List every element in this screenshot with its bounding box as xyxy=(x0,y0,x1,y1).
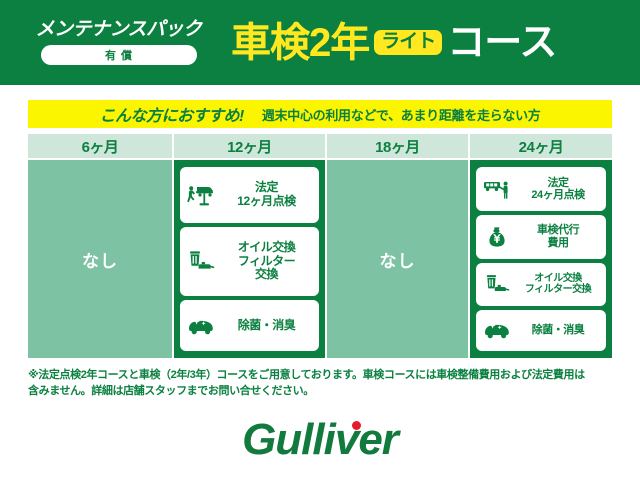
service-label-oil-filter-change-24: オイル交換フィルター交換 xyxy=(514,273,602,295)
column-12-months: 12ヶ月 xyxy=(174,134,325,358)
service-chip-legal-12-month-inspection: 法定12ヶ月点検 xyxy=(180,167,319,223)
none-label-6-months: なし xyxy=(82,247,118,272)
service-label-oil-filter-change-12: オイル交換フィルター交換 xyxy=(218,241,315,281)
service-chip-sanitize-deodorize-12: 除菌・消臭 xyxy=(180,300,319,351)
service-chip-oil-filter-change-24: オイル交換フィルター交換 xyxy=(476,263,606,306)
paid-badge: 有償 xyxy=(41,45,197,65)
paid-badge-label: 有償 xyxy=(100,47,137,63)
column-body-12-months: 法定12ヶ月点検 xyxy=(174,160,325,358)
course-title-block: 車検2年 ライト コース xyxy=(231,23,640,63)
service-chip-shaken-agency-fee: 車検代行費用 xyxy=(476,215,606,259)
service-label-sanitize-deodorize-12: 除菌・消臭 xyxy=(218,319,315,332)
shaken-2year-label: 車検2年 xyxy=(231,23,369,63)
service-label-legal-24-month-inspection: 法定24ヶ月点検 xyxy=(514,177,602,202)
page-header: メンテナンスパック 有償 車検2年 ライト コース xyxy=(0,0,640,85)
maintenance-schedule-table: 6ヶ月 なし 12ヶ月 xyxy=(28,134,612,358)
column-header-6-months: 6ヶ月 xyxy=(28,134,172,158)
car-inspection-person-icon xyxy=(480,178,514,200)
service-chip-legal-24-month-inspection: 法定24ヶ月点検 xyxy=(476,167,606,211)
money-bag-yen-icon xyxy=(480,225,514,249)
advertisement-page: メンテナンスパック 有償 車検2年 ライト コース こんな方におすすめ! 週末中… xyxy=(0,0,640,480)
car-sanitize-icon xyxy=(480,319,514,341)
column-body-18-months: なし xyxy=(327,160,468,358)
service-chip-oil-filter-change-12: オイル交換フィルター交換 xyxy=(180,227,319,296)
oil-filter-change-icon xyxy=(184,248,218,274)
logo-accent-dot-icon xyxy=(352,421,361,430)
maintenance-pack-block: メンテナンスパック 有償 xyxy=(16,20,221,65)
footnote-line-1: ※法定点検2年コースと車検（2年/3年）コースをご用意しております。車検コースに… xyxy=(28,368,614,384)
column-body-24-months: 法定24ヶ月点検 車検代行費用 xyxy=(470,160,612,358)
column-header-18-months: 18ヶ月 xyxy=(327,134,468,158)
column-24-months: 24ヶ月 xyxy=(470,134,612,358)
car-lift-inspection-icon xyxy=(184,182,218,208)
column-header-12-months: 12ヶ月 xyxy=(174,134,325,158)
service-label-sanitize-deodorize-24: 除菌・消臭 xyxy=(514,324,602,336)
oil-filter-change-icon xyxy=(480,272,514,296)
column-18-months: 18ヶ月 なし xyxy=(327,134,468,358)
light-badge: ライト xyxy=(374,30,442,56)
service-label-legal-12-month-inspection: 法定12ヶ月点検 xyxy=(218,181,315,208)
none-label-18-months: なし xyxy=(379,247,415,272)
maintenance-pack-title: メンテナンスパック xyxy=(35,20,201,40)
car-sanitize-icon xyxy=(184,315,218,337)
footnote-line-2: 含みません。詳細は店舗スタッフまでお問い合せください。 xyxy=(28,384,614,400)
service-chip-sanitize-deodorize-24: 除菌・消臭 xyxy=(476,310,606,351)
service-label-shaken-agency-fee: 車検代行費用 xyxy=(514,224,602,249)
logo-wrap: Gulliver xyxy=(242,418,398,462)
brand-logo: Gulliver xyxy=(0,418,640,462)
recommendation-headline: こんな方におすすめ! xyxy=(100,102,244,126)
logo-text: Gulliver xyxy=(242,415,398,464)
recommendation-description: 週末中心の利用などで、あまり距離を走らない方 xyxy=(262,105,541,124)
column-6-months: 6ヶ月 なし xyxy=(28,134,172,358)
column-body-6-months: なし xyxy=(28,160,172,358)
footnote: ※法定点検2年コースと車検（2年/3年）コースをご用意しております。車検コースに… xyxy=(28,368,614,400)
recommendation-banner: こんな方におすすめ! 週末中心の利用などで、あまり距離を走らない方 xyxy=(28,100,612,128)
course-label: コース xyxy=(447,24,556,62)
column-header-24-months: 24ヶ月 xyxy=(470,134,612,158)
